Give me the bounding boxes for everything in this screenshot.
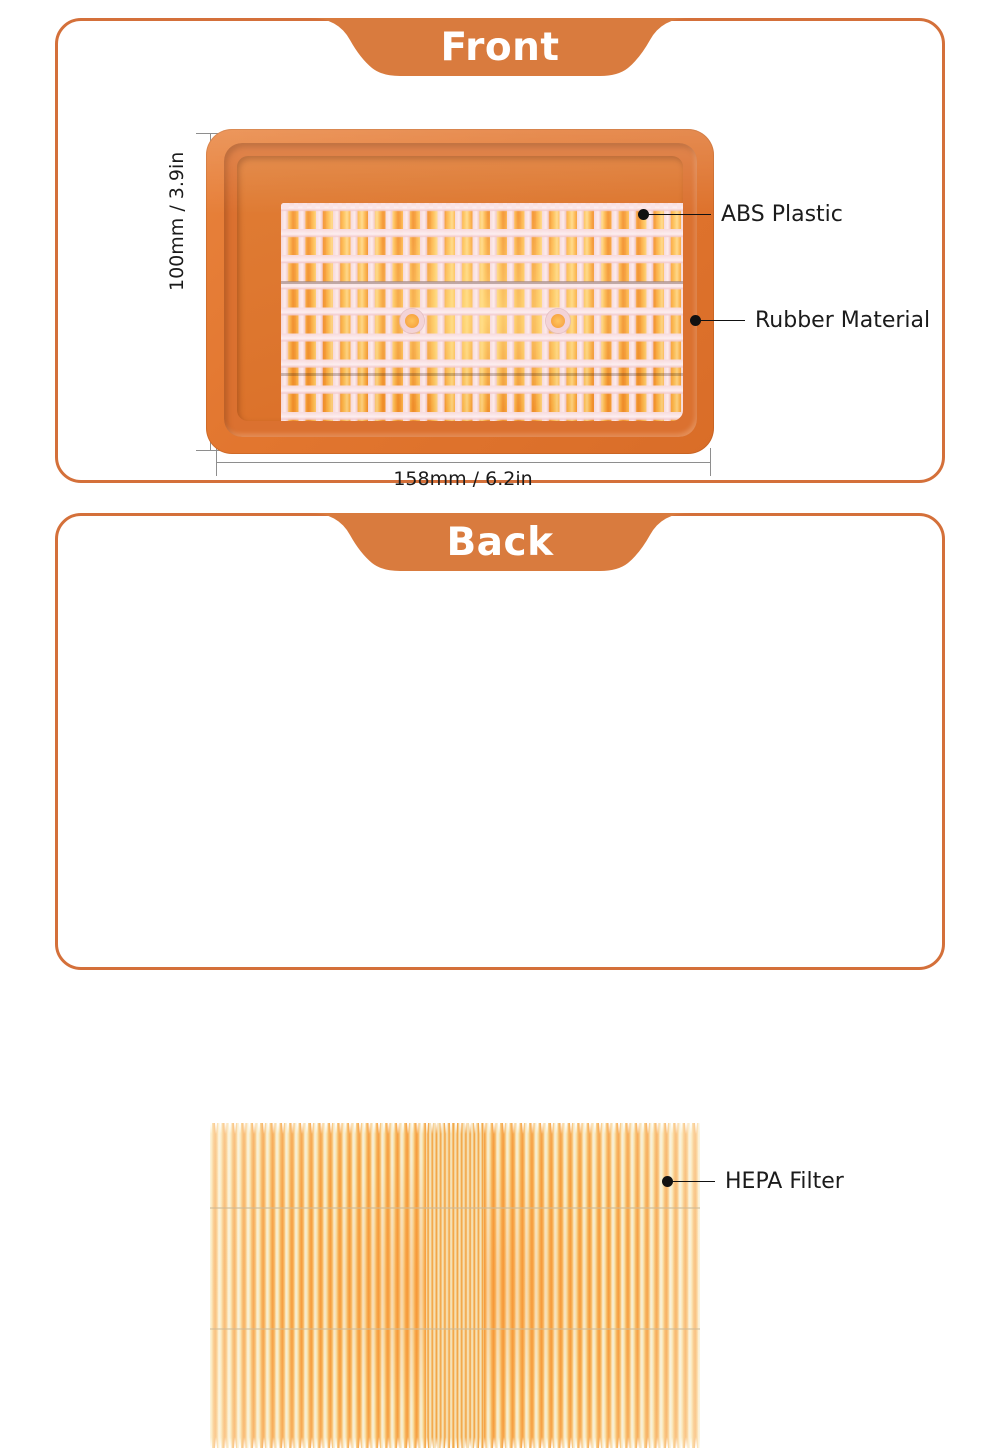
filter-rubber-frame (206, 129, 714, 454)
callout-leader-line (701, 320, 745, 321)
callout-label: ABS Plastic (721, 202, 843, 227)
air-filter-front-image (206, 129, 714, 454)
front-tab-label: Front (310, 18, 690, 76)
width-dimension-line (216, 462, 711, 463)
callout-dot-icon (690, 315, 701, 326)
back-tab-label: Back (310, 513, 690, 571)
width-dimension-label: 158mm / 6.2in (58, 468, 868, 490)
hepa-media-seam-rows (210, 1123, 700, 1448)
callout-leader-line (673, 1181, 715, 1182)
front-view-card: Front 100mm / 3.9in 158mm / 6.2in (55, 18, 945, 483)
hepa-pleat-tips-bottom (210, 1437, 700, 1448)
callout-dot-icon (662, 1176, 673, 1187)
filter-abs-plastic-mesh (281, 203, 683, 421)
back-tab-banner: Back (310, 513, 690, 577)
mesh-scallop-top-edge (281, 203, 683, 209)
infographic-canvas: Front 100mm / 3.9in 158mm / 6.2in (0, 0, 1000, 1000)
callout-dot-icon (638, 209, 649, 220)
callout-rubber-material: Rubber Material (690, 308, 930, 333)
callout-leader-line (649, 214, 711, 215)
mesh-seam-rows (281, 203, 683, 421)
filter-frame-inner-recess (237, 156, 683, 421)
mesh-ring-right (546, 309, 570, 333)
height-dimension-label: 100mm / 3.9in (166, 152, 188, 291)
mesh-ring-left (400, 309, 424, 333)
front-tab-banner: Front (310, 18, 690, 82)
callout-hepa-filter: HEPA Filter (662, 1169, 844, 1194)
hepa-pleat-tips-top (210, 1123, 700, 1134)
back-view-card: Back HEPA Filter (55, 513, 945, 970)
air-filter-back-image (210, 1123, 700, 1448)
callout-label: HEPA Filter (725, 1169, 844, 1194)
callout-abs-plastic: ABS Plastic (638, 202, 843, 227)
callout-label: Rubber Material (755, 308, 930, 333)
